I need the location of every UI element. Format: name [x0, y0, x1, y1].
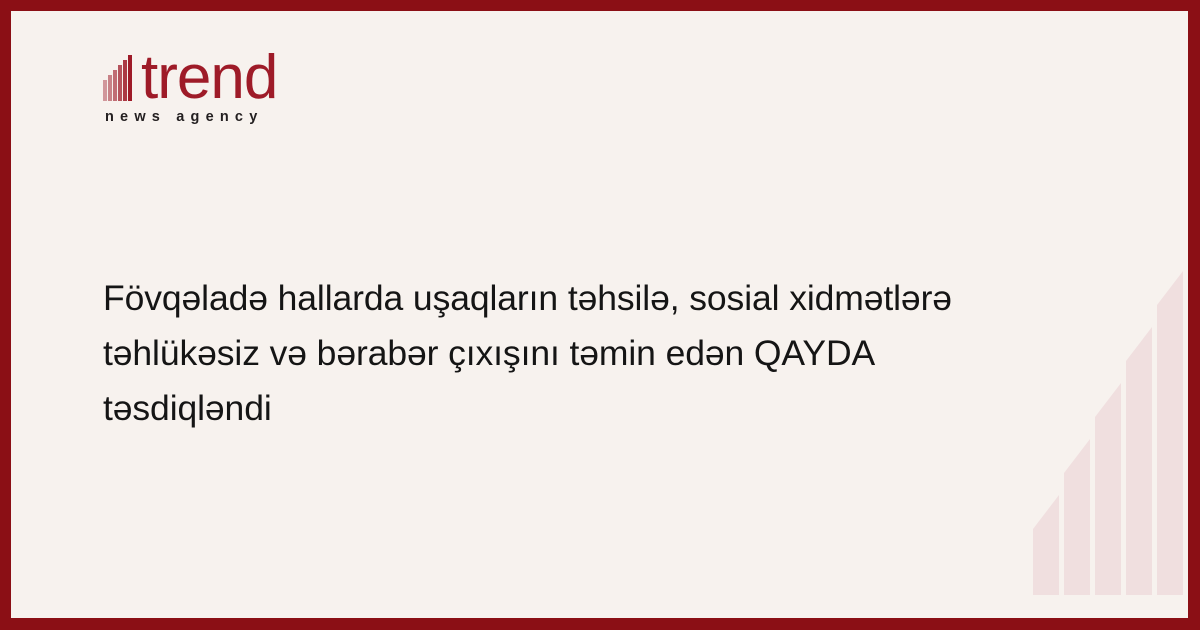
ascending-bars-mark-icon [103, 53, 143, 101]
watermark-bar-1 [1033, 495, 1059, 595]
watermark-bar-chamfer [1157, 271, 1183, 305]
logo-mark-row: trend [103, 45, 403, 103]
logo-bar-6 [128, 55, 132, 101]
logo-bar-4 [118, 65, 122, 101]
logo-wordmark: trend [141, 47, 277, 109]
watermark-bar-chamfer [1064, 439, 1090, 473]
logo-bar-5 [123, 60, 127, 101]
article-headline: Fövqəladə hallarda uşaqların təhsilə, so… [103, 271, 1103, 436]
headline-line-3: təsdiqləndi [103, 381, 1103, 436]
watermark-bar-chamfer [1126, 327, 1152, 361]
watermark-bar-2 [1064, 439, 1090, 595]
watermark-bar-4 [1126, 327, 1152, 595]
logo-bar-1 [103, 80, 107, 101]
headline-line-2: təhlükəsiz və bərabər çıxışını təmin edə… [103, 326, 1103, 381]
watermark-bar-5 [1157, 271, 1183, 595]
logo-bar-3 [113, 70, 117, 101]
trend-logo[interactable]: trend news agency [103, 45, 403, 125]
trend-news-share-card: trend news agency Fövqəladə hallarda uşa… [0, 0, 1200, 630]
watermark-bar-chamfer [1033, 495, 1059, 529]
card-inner-surface: trend news agency Fövqəladə hallarda uşa… [11, 11, 1188, 618]
headline-line-1: Fövqəladə hallarda uşaqların təhsilə, so… [103, 271, 1103, 326]
logo-bar-2 [108, 75, 112, 101]
